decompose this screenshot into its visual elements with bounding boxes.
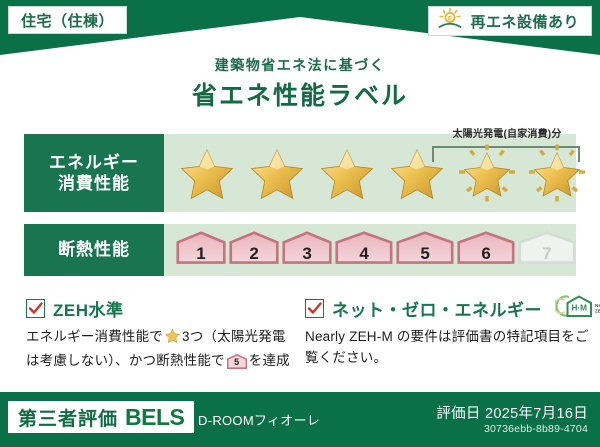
footer: 第三者評価 BELS D-ROOMフィオーレ 評価日 2025年7月16日 30… — [0, 392, 600, 447]
renewable-energy-label: 再エネ設備あり — [470, 11, 579, 32]
insulation-grade-badge: 3 — [282, 231, 332, 269]
bels-logo-text: BELS — [125, 404, 184, 431]
criterion-header: ネット・ゼロ・エネルギー H·M Nearly ZEH-M — [305, 296, 590, 320]
criterion-header: ZEH水準 — [26, 296, 296, 320]
insulation-key-label: 断熱性能 — [58, 239, 130, 260]
insulation-grade-number: 3 — [282, 231, 332, 269]
star-filled — [316, 142, 378, 204]
insulation-grade-number: 2 — [229, 231, 279, 269]
insulation-grade-badge: 5 — [396, 231, 454, 269]
insulation-grade-badge: 4 — [335, 231, 393, 269]
star-rating — [164, 134, 576, 212]
star-filled — [246, 142, 308, 204]
evaluation-date: 評価日 2025年7月16日 — [436, 402, 588, 423]
sun-icon: E — [437, 7, 463, 36]
insulation-grade-number: 7 — [518, 231, 576, 269]
criterion-star-count: 3つ — [182, 329, 203, 344]
label-subtitle: 建築物省エネ法に基づく — [0, 55, 600, 75]
building-type-badge: 住宅（住棟） — [8, 6, 127, 34]
insulation-grade-scale: 1 2 3 4 — [164, 224, 576, 276]
insulation-grade-badge: 2 — [229, 231, 279, 269]
criterion-description: Nearly ZEH-M の要件は評価書の特記項目をご覧ください。 — [305, 327, 590, 369]
svg-text:E: E — [448, 15, 453, 22]
insulation-grade-number: 5 — [396, 231, 454, 269]
insulation-grade-badge: 1 — [176, 231, 226, 269]
zeh-m-logo-sub1: Nearly — [595, 303, 600, 308]
criterion-text-part1: エネルギー消費性能で — [26, 329, 163, 344]
star-filled — [386, 142, 448, 204]
inline-house-icon: 5 — [227, 354, 247, 369]
insulation-grade-badge-inactive: 7 — [518, 231, 576, 269]
building-type-label: 住宅（住棟） — [21, 10, 114, 31]
document-id: 30736ebb-8b89-4704 — [484, 423, 588, 435]
page-title: 省エネ性能ラベル — [0, 76, 600, 112]
energy-performance-row: エネルギー 消費性能 太陽光発電(自家消費)分 — [24, 134, 576, 212]
insulation-grade-badge: 6 — [457, 231, 515, 269]
star-filled — [176, 142, 238, 204]
energy-performance-label: 住宅（住棟） E 再エネ設備あり 建築物省エネ法に基づく 省エネ性能ラベル — [0, 0, 600, 447]
zeh-m-logo-icon: H·M Nearly ZEH-M — [555, 293, 600, 324]
insulation-performance-key: 断熱性能 — [24, 224, 164, 276]
criterion-title: ZEH水準 — [53, 296, 124, 321]
star-solar — [456, 142, 518, 204]
inline-house-number: 5 — [227, 354, 247, 369]
insulation-performance-value: 1 2 3 4 — [164, 224, 576, 276]
bels-badge: 第三者評価 BELS — [8, 401, 194, 433]
checkbox-checked[interactable] — [305, 299, 324, 318]
criterion-description: エネルギー消費性能で3つ（太陽光発電は考慮しない）、かつ断熱性能で5を達成 — [26, 327, 296, 372]
inline-star-icon — [164, 332, 181, 347]
building-name: D-ROOMフィオーレ — [198, 410, 320, 429]
renewable-energy-badge: E 再エネ設備あり — [428, 6, 592, 36]
checkbox-checked[interactable] — [26, 299, 45, 318]
third-party-label: 第三者評価 — [18, 404, 118, 431]
check-icon — [307, 301, 322, 316]
energy-key-line1: エネルギー — [49, 152, 139, 173]
insulation-grade-number: 6 — [457, 231, 515, 269]
energy-performance-value: 太陽光発電(自家消費)分 — [164, 134, 576, 212]
insulation-grade-number: 1 — [176, 231, 226, 269]
energy-key-line2: 消費性能 — [58, 173, 130, 194]
insulation-performance-row: 断熱性能 1 — [24, 224, 576, 276]
zeh-m-logo-text: H·M — [571, 303, 587, 312]
zeh-m-logo-sub2: ZEH-M — [595, 308, 600, 313]
star-solar — [526, 142, 588, 204]
energy-performance-key: エネルギー 消費性能 — [24, 134, 164, 212]
insulation-grade-number: 4 — [335, 231, 393, 269]
criterion-title: ネット・ゼロ・エネルギー — [332, 296, 542, 321]
check-icon — [28, 301, 43, 316]
criterion-net-zero-energy: ネット・ゼロ・エネルギー H·M Nearly ZEH-M Nearly ZEH… — [305, 296, 590, 369]
criterion-zeh-standard: ZEH水準 エネルギー消費性能で3つ（太陽光発電は考慮しない）、かつ断熱性能で5… — [26, 296, 296, 372]
criterion-text-part3: を達成 — [249, 353, 290, 368]
